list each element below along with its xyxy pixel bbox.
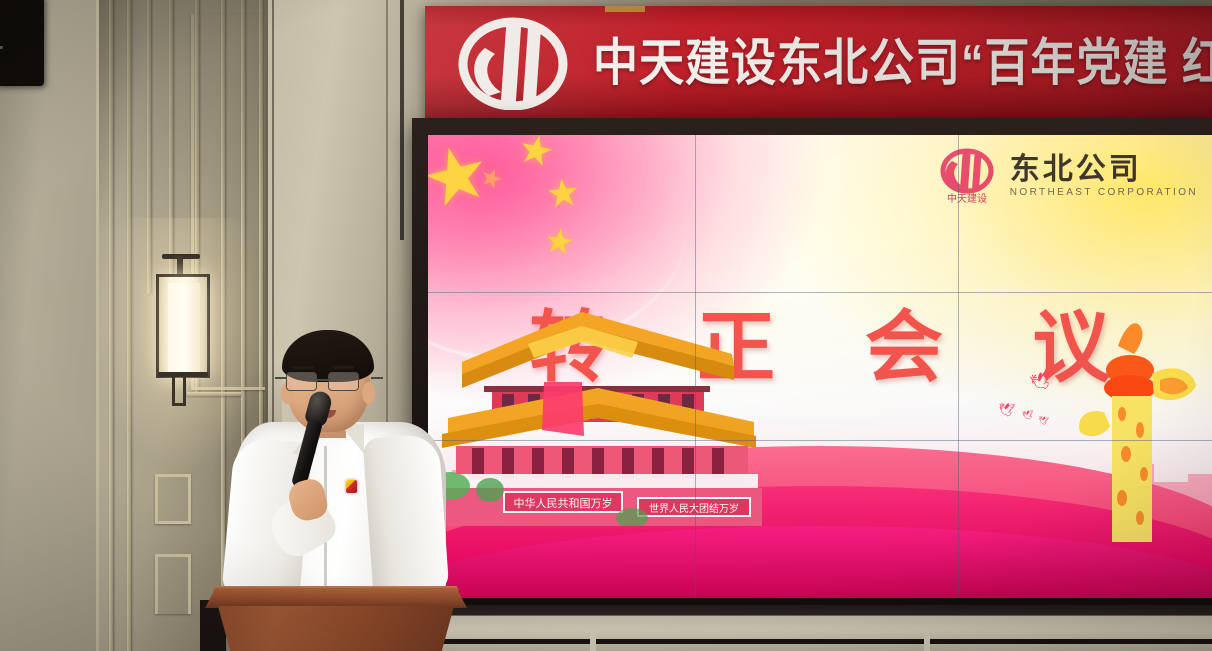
stage-base-gap [924, 629, 930, 651]
lattice-bar [169, 0, 173, 294]
presenter-eyebrow [332, 366, 354, 369]
conference-room-photo: 中天建设东北公司“百年党建 红色记忆”党日活动 ★ ★ ★ ★ ★ 中天建设 [0, 0, 1212, 651]
lattice-geometric-box [155, 474, 191, 524]
screen-logo-cn-name: 东北公司 [1010, 154, 1198, 186]
wooden-podium-top [205, 588, 467, 608]
svg-text:中天建设: 中天建设 [947, 192, 987, 205]
glasses-temple [275, 377, 287, 379]
stage-base-line [404, 639, 1212, 644]
glasses-icon [286, 372, 372, 392]
corner-dark-display [0, 0, 44, 86]
lattice-geometric-box [155, 554, 191, 614]
presenter-eyebrow [292, 366, 314, 369]
stage-base-gap [590, 629, 596, 651]
svg-text:世界人民大团结万岁: 世界人民大团结万岁 [649, 502, 739, 515]
sconce-light-panel [168, 283, 200, 373]
display-glint [0, 46, 3, 49]
screen-corporate-logo: 中天建设 东北公司 NORTHEAST CORPORATION [936, 147, 1198, 205]
lattice-bar [127, 0, 131, 651]
lattice-bar [147, 0, 151, 294]
screen-logo-en-name: NORTHEAST CORPORATION [1010, 187, 1198, 198]
led-video-wall: ★ ★ ★ ★ ★ 中天建设 东北公司 NORTHEAST CORPORATIO… [428, 135, 1212, 598]
tiananmen-gate: 中华人民共和国万岁 世界人民大团结万岁 [432, 296, 762, 526]
wall-seam [400, 0, 404, 240]
video-wall-seam-vertical [958, 135, 959, 598]
party-emblem-pin [346, 480, 357, 493]
red-event-banner: 中天建设东北公司“百年党建 红色记忆”党日活动 [425, 6, 1212, 118]
wall-left-plain [0, 0, 96, 651]
zhongtian-construction-logo [455, 14, 571, 110]
banner-glint [605, 6, 645, 12]
video-wall-seam-horizontal [428, 440, 1212, 441]
video-wall-seam-horizontal [428, 292, 1212, 293]
presenter-at-podium [228, 330, 450, 610]
glasses-lens [328, 372, 359, 391]
stage-base-wall [404, 605, 1212, 651]
torch-monument [1060, 312, 1200, 542]
presenter-arm-right [363, 434, 450, 599]
glasses-temple [371, 377, 383, 379]
svg-text:中华人民共和国万岁: 中华人民共和国万岁 [514, 496, 613, 510]
lattice-bar [109, 0, 113, 651]
sconce-frame [156, 274, 210, 378]
wall-sconce [150, 262, 214, 412]
zhongtian-mark-icon: 中天建设 [936, 147, 998, 205]
video-wall-seam-vertical [695, 135, 696, 598]
wooden-podium-body [213, 606, 459, 651]
banner-title: 中天建设东北公司“百年党建 红色记忆”党日活动 [593, 37, 1212, 87]
glasses-lens [286, 372, 317, 391]
sconce-foot [172, 376, 186, 406]
glasses-bridge [317, 379, 328, 381]
